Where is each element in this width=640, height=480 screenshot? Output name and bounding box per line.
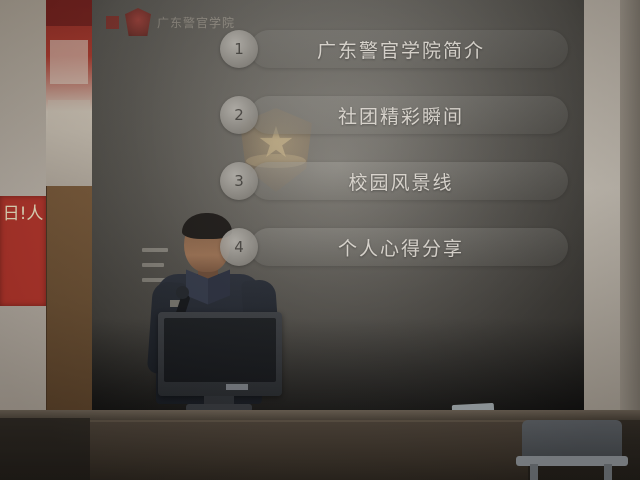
red-banner-text: 日!人 <box>0 196 46 224</box>
agenda-label: 校园风景线 <box>258 168 570 195</box>
desk-front-panel <box>88 420 528 480</box>
right-wall-edge <box>620 0 640 418</box>
agenda-number: 4 <box>220 228 258 266</box>
left-wall: 日!人 <box>0 0 92 420</box>
agenda-item: 2 社团精彩瞬间 <box>220 96 570 134</box>
agenda-label: 广东警官学院简介 <box>258 36 570 63</box>
agenda-number: 3 <box>220 162 258 200</box>
slide-header-org-text: 广东警官学院 <box>157 14 235 31</box>
microphone-head <box>176 286 189 299</box>
monitor-brand-label <box>226 384 248 390</box>
wall-poster-strip <box>46 0 92 186</box>
photo-scene: 日!人 广东警官学院 1 广东警官学 <box>0 0 640 480</box>
police-badge-icon <box>125 8 151 36</box>
desk-front-left-panel <box>0 418 90 480</box>
agenda-item: 3 校园风景线 <box>220 162 570 200</box>
chair-leg <box>604 464 612 480</box>
agenda-item: 1 广东警官学院简介 <box>220 30 570 68</box>
office-chair <box>512 420 628 480</box>
slide-agenda-list: 1 广东警官学院简介 2 社团精彩瞬间 3 校园风景线 4 个人心得分享 <box>220 30 570 294</box>
red-square-icon <box>106 16 119 29</box>
monitor-bezel <box>158 312 282 396</box>
agenda-number: 1 <box>220 30 258 68</box>
agenda-label: 个人心得分享 <box>258 234 570 261</box>
right-wall <box>584 0 640 418</box>
monitor-screen <box>164 318 276 382</box>
agenda-item: 4 个人心得分享 <box>220 228 570 266</box>
poster-panel-upper <box>50 40 88 84</box>
desk-top-edge <box>0 410 640 420</box>
red-wall-banner: 日!人 <box>0 196 46 306</box>
agenda-label: 社团精彩瞬间 <box>258 102 570 129</box>
desktop-monitor <box>158 312 282 412</box>
chair-leg <box>530 464 538 480</box>
poster-panel-lower <box>48 100 90 130</box>
agenda-number: 2 <box>220 96 258 134</box>
